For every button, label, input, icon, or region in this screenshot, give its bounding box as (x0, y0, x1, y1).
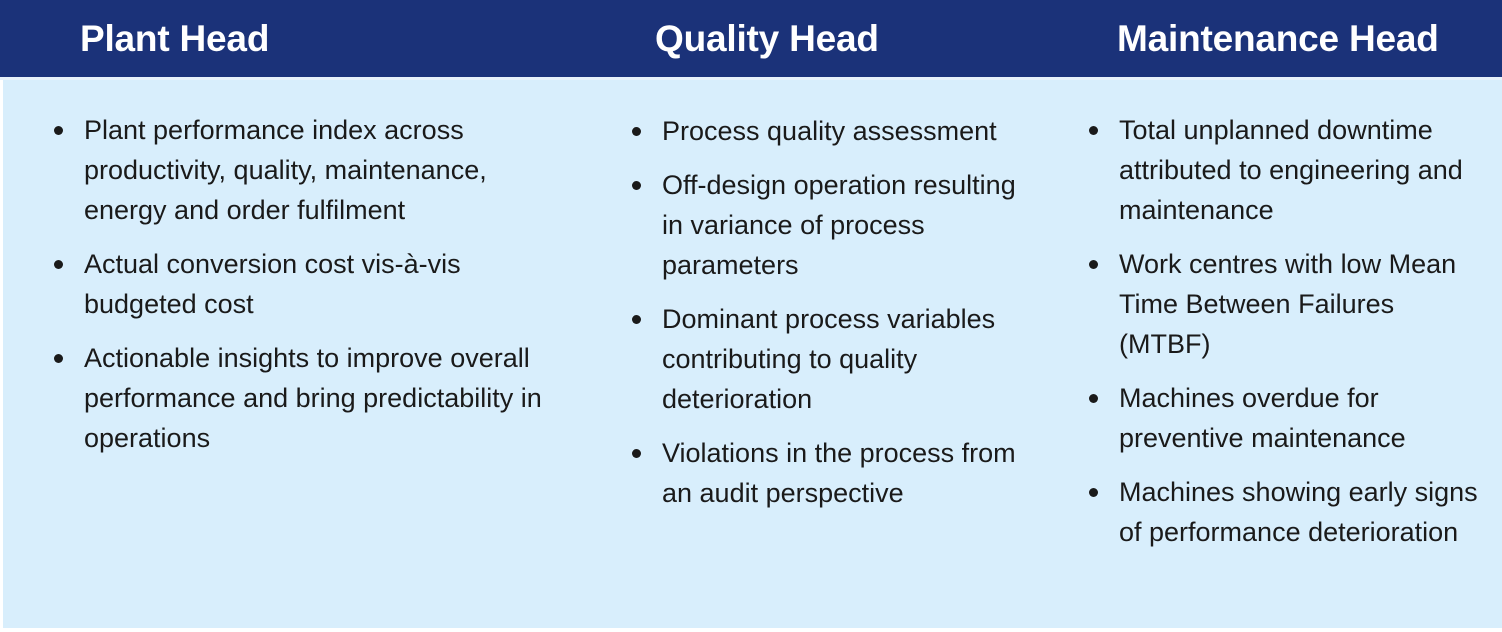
list-item: Actual conversion cost vis-à-vis budgete… (50, 244, 570, 324)
column-header-plant-head: Plant Head (80, 0, 269, 77)
list-item: Plant performance index across productiv… (50, 110, 570, 230)
table-header-band: Plant Head Quality Head Maintenance Head (0, 0, 1502, 77)
list-item-text: Work centres with low Mean Time Between … (1119, 244, 1485, 364)
bullet-dot-icon (632, 127, 641, 136)
list-item: Machines overdue for preventive maintena… (1085, 378, 1485, 458)
list-item: Total unplanned downtime attributed to e… (1085, 110, 1485, 230)
bullet-dot-icon (54, 126, 63, 135)
list-item: Off-design operation resulting in varian… (628, 165, 1028, 285)
role-requirements-table: Plant Head Quality Head Maintenance Head… (0, 0, 1502, 632)
bullet-list-maintenance-head: Total unplanned downtime attributed to e… (1085, 80, 1485, 552)
list-item-text: Actionable insights to improve overall p… (84, 338, 570, 458)
list-item-text: Machines showing early signs of performa… (1119, 472, 1485, 552)
list-item-text: Violations in the process from an audit … (662, 433, 1028, 513)
bullet-dot-icon (1089, 394, 1098, 403)
column-header-label: Maintenance Head (1117, 20, 1439, 57)
column-plant-head: Plant performance index across productiv… (50, 80, 570, 458)
table-body: Plant performance index across productiv… (3, 80, 1502, 628)
list-item: Work centres with low Mean Time Between … (1085, 244, 1485, 364)
bullet-list-plant-head: Plant performance index across productiv… (50, 80, 570, 458)
list-item-text: Dominant process variables contributing … (662, 299, 1028, 419)
list-item-text: Total unplanned downtime attributed to e… (1119, 110, 1485, 230)
list-item-text: Actual conversion cost vis-à-vis budgete… (84, 244, 570, 324)
list-item: Actionable insights to improve overall p… (50, 338, 570, 458)
column-maintenance-head: Total unplanned downtime attributed to e… (1085, 80, 1485, 552)
list-item: Machines showing early signs of performa… (1085, 472, 1485, 552)
bullet-dot-icon (1089, 260, 1098, 269)
list-item-text: Plant performance index across productiv… (84, 110, 570, 230)
bullet-dot-icon (1089, 488, 1098, 497)
column-header-label: Plant Head (80, 20, 269, 57)
bullet-dot-icon (632, 181, 641, 190)
column-quality-head: Process quality assessment Off-design op… (628, 80, 1028, 513)
list-item: Process quality assessment (628, 111, 1028, 151)
list-item-text: Machines overdue for preventive maintena… (1119, 378, 1485, 458)
list-item: Violations in the process from an audit … (628, 433, 1028, 513)
column-header-label: Quality Head (655, 20, 879, 57)
column-header-maintenance-head: Maintenance Head (1117, 0, 1439, 77)
bullet-dot-icon (632, 449, 641, 458)
bullet-dot-icon (54, 354, 63, 363)
list-item-text: Process quality assessment (662, 111, 1028, 151)
column-header-quality-head: Quality Head (655, 0, 879, 77)
bullet-dot-icon (1089, 126, 1098, 135)
bullet-dot-icon (632, 315, 641, 324)
bullet-dot-icon (54, 260, 63, 269)
bullet-list-quality-head: Process quality assessment Off-design op… (628, 80, 1028, 513)
list-item-text: Off-design operation resulting in varian… (662, 165, 1028, 285)
list-item: Dominant process variables contributing … (628, 299, 1028, 419)
